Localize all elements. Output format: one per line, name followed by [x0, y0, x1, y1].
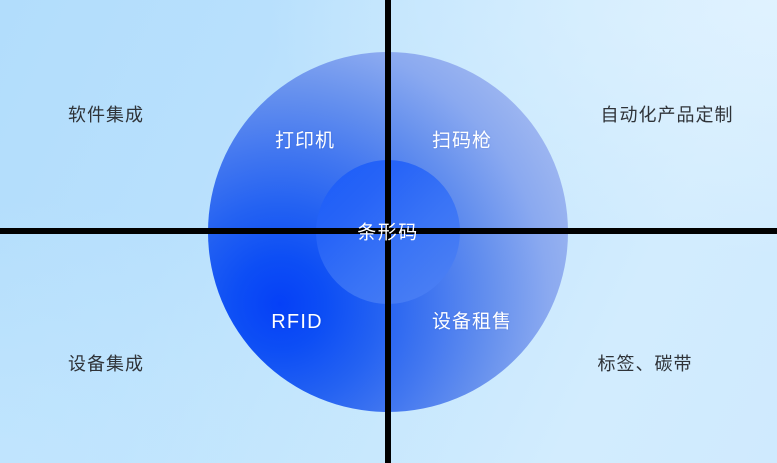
diagram-canvas: 打印机 扫码枪 RFID 设备租售 条形码 软件集成 自动化产品定制 设备集成 …	[0, 0, 777, 463]
segment-label-scanner[interactable]: 扫码枪	[432, 132, 492, 151]
quadrant-label-labels-ribbons[interactable]: 标签、碳带	[598, 355, 693, 373]
quadrant-label-software-integration[interactable]: 软件集成	[68, 106, 144, 124]
quadrant-label-equipment-integration[interactable]: 设备集成	[68, 355, 144, 373]
segment-label-printer[interactable]: 打印机	[275, 132, 335, 151]
center-label-barcode[interactable]: 条形码	[357, 224, 419, 243]
segment-label-equipment-rental[interactable]: 设备租售	[432, 313, 512, 332]
segment-label-rfid[interactable]: RFID	[271, 312, 322, 332]
quadrant-label-automation-customization[interactable]: 自动化产品定制	[601, 106, 734, 124]
